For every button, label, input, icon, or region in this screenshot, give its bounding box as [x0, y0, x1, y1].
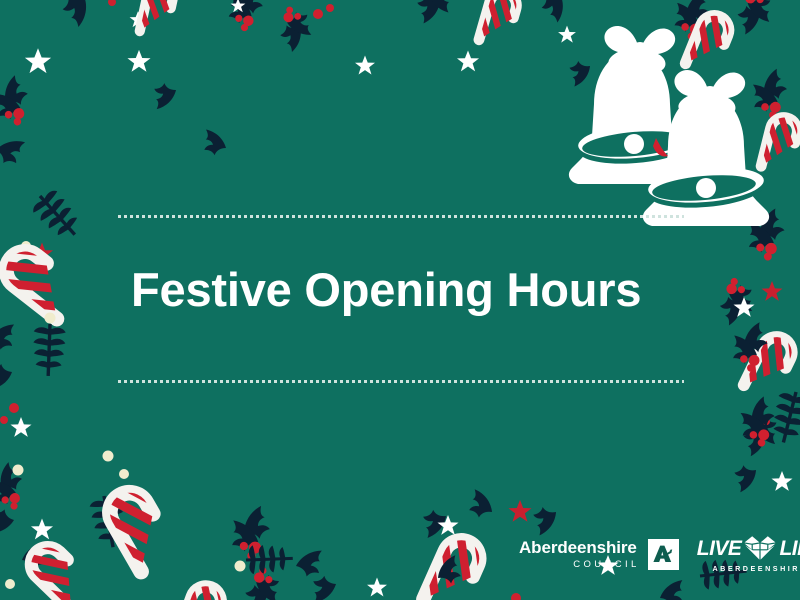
dotted-divider-bottom [118, 380, 684, 383]
aberdeenshire-council-wordmark: Aberdeenshire COUNCIL [519, 539, 637, 570]
decor-left-edge [0, 71, 176, 570]
live-life-aberdeenshire-logo: LIVE LIFE ABERDEENSHIRE [697, 535, 800, 573]
decor-right-edge [671, 206, 800, 492]
title-block [118, 215, 684, 218]
council-sub-text: COUNCIL [573, 560, 640, 570]
live-life-wordmark-row: LIVE LIFE [697, 535, 800, 561]
council-name-text: Aberdeenshire [519, 539, 637, 556]
dotted-divider-top [118, 215, 684, 218]
council-a-mark-icon [648, 539, 679, 570]
life-text: LIFE [779, 538, 800, 559]
festive-opening-hours-poster: Festive Opening Hours Aberdeenshire COUN… [0, 0, 800, 600]
page-title: Festive Opening Hours [131, 262, 641, 317]
heart-icon [743, 535, 777, 561]
logo-lockup: Aberdeenshire COUNCIL LIVE [519, 535, 800, 573]
decor-top-band [0, 0, 800, 232]
live-life-sub-text: ABERDEENSHIRE [712, 564, 800, 573]
live-text: LIVE [697, 538, 742, 559]
